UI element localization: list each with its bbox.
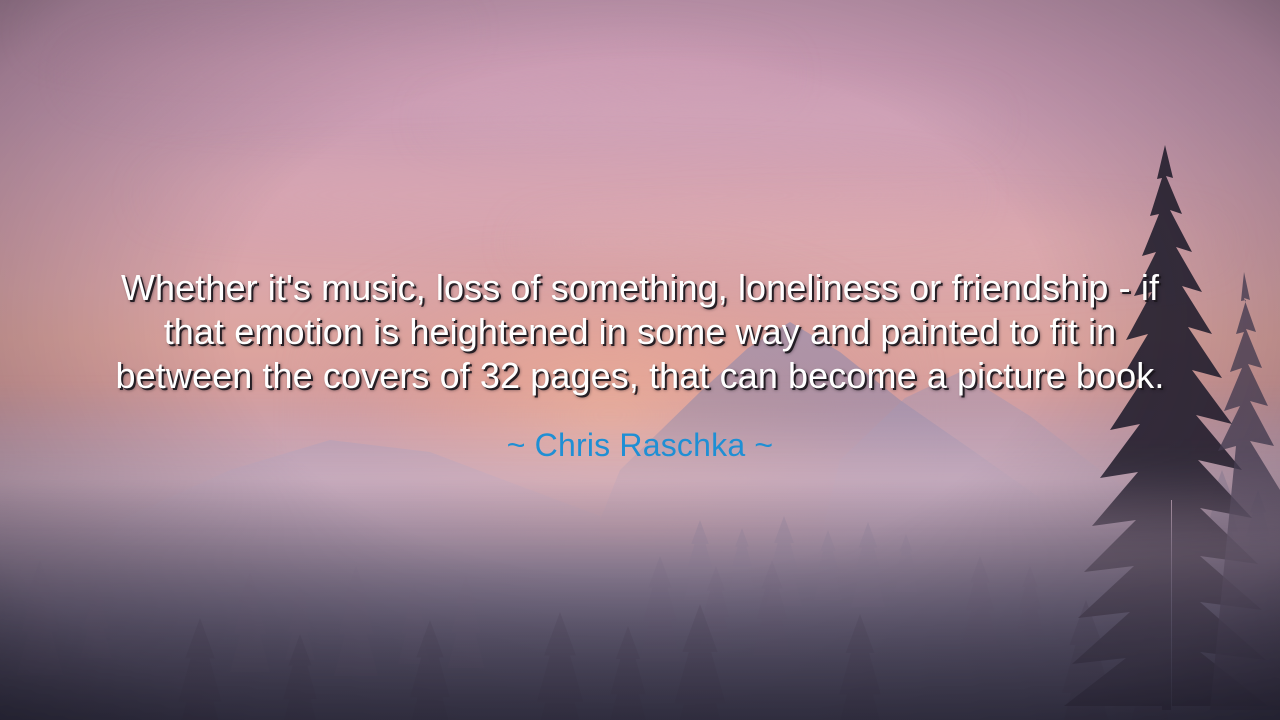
quote-image-canvas: Whether it's music, loss of something, l… — [0, 0, 1280, 720]
quote-author: ~ Chris Raschka ~ — [507, 426, 774, 464]
quote-overlay: Whether it's music, loss of something, l… — [0, 0, 1280, 720]
quote-text: Whether it's music, loss of something, l… — [110, 266, 1170, 398]
